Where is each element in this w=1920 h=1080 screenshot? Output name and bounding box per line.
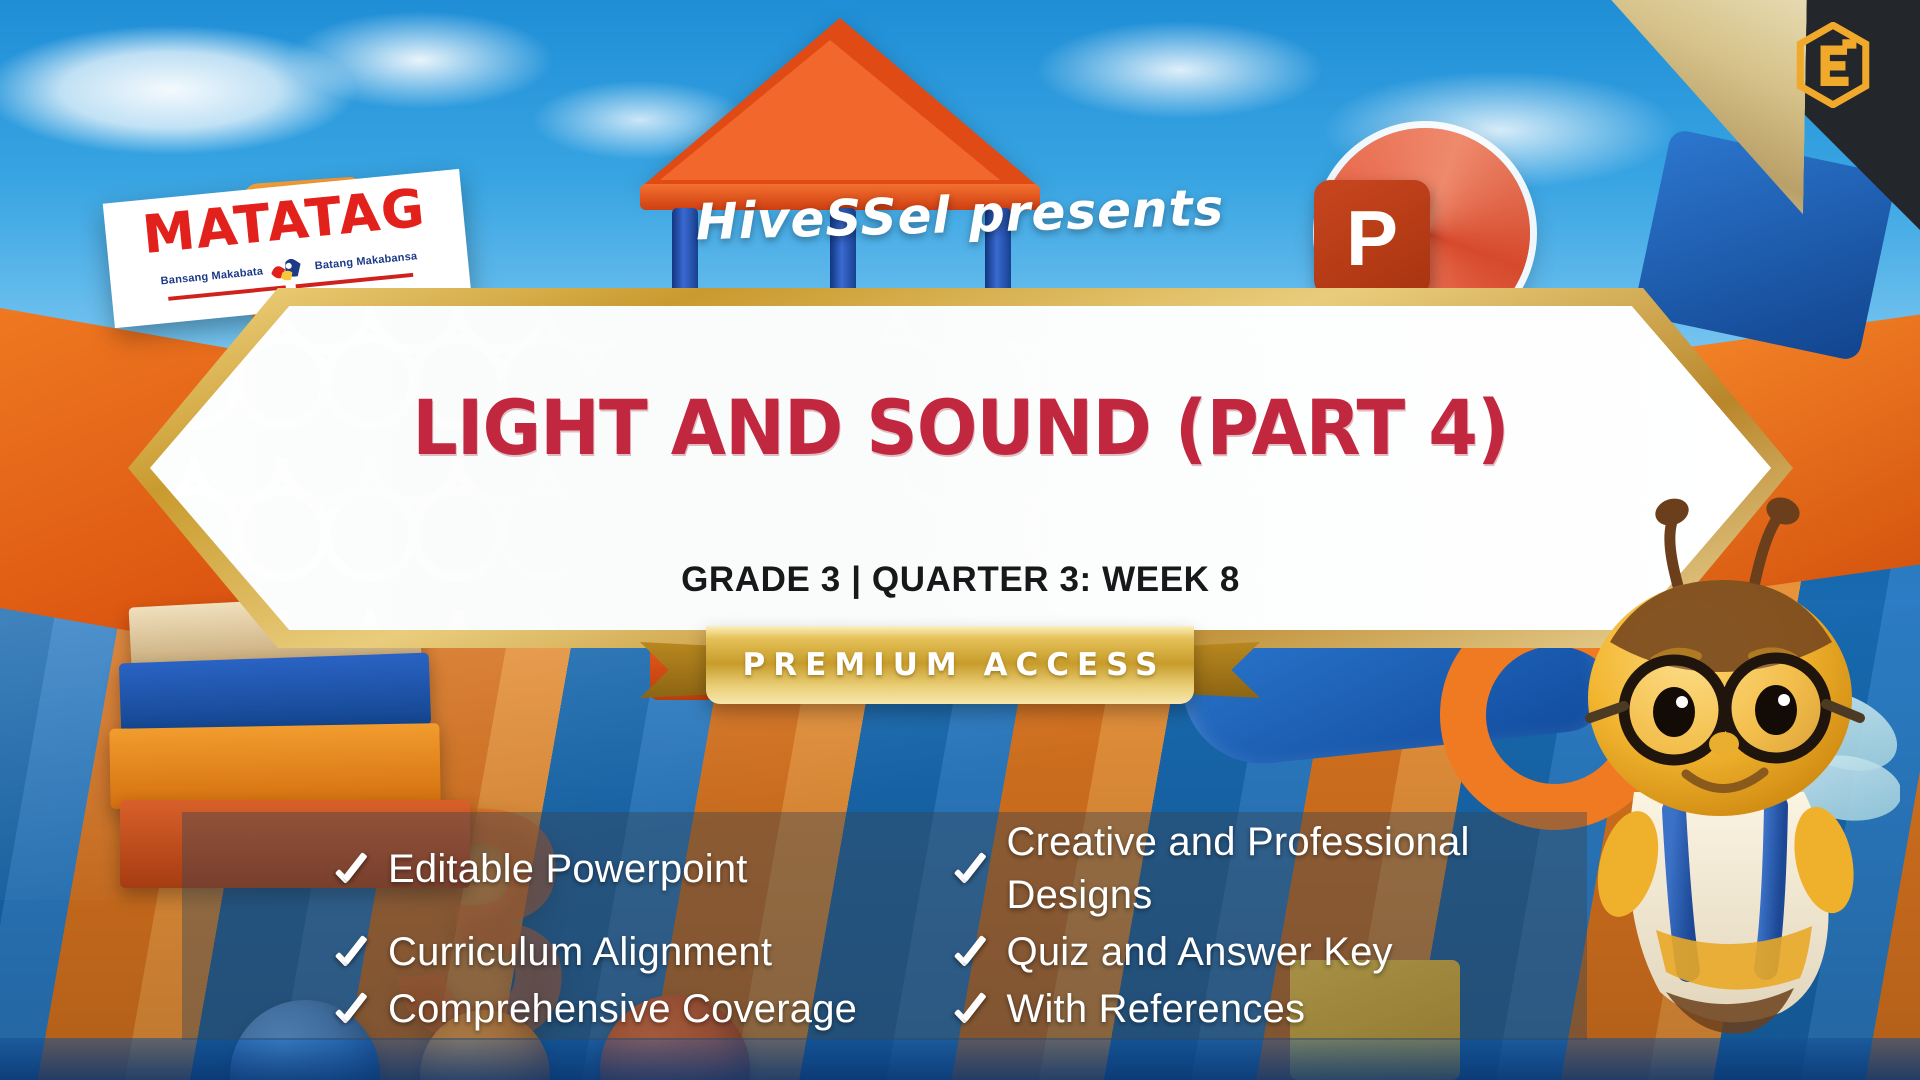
feature-item: Curriculum Alignment bbox=[332, 926, 951, 979]
book-stack-item bbox=[119, 653, 431, 736]
premium-access-label: PREMIUM ACCESS bbox=[735, 647, 1166, 683]
book-stack-item bbox=[109, 723, 440, 809]
slide-cover: 3 HiveSSel presents MATATAG Bansang Maka… bbox=[0, 0, 1920, 1080]
check-icon bbox=[332, 932, 372, 972]
feature-item: Quiz and Answer Key bbox=[951, 926, 1570, 979]
powerpoint-tile: P bbox=[1314, 180, 1430, 296]
grade-quarter-week-subtitle: GRADE 3 | QUARTER 3: WEEK 8 bbox=[150, 560, 1771, 600]
matatag-tagline-right: Batang Makabansa bbox=[314, 250, 418, 272]
feature-item: Creative and Professional Designs bbox=[951, 816, 1570, 922]
hands-heart-emblem-icon bbox=[268, 254, 310, 284]
feature-label: Creative and Professional Designs bbox=[1007, 816, 1570, 922]
ribbon-body: PREMIUM ACCESS bbox=[706, 626, 1194, 704]
check-icon bbox=[951, 849, 991, 889]
matatag-tagline-left: Bansang Makabata bbox=[160, 265, 264, 287]
bee-mascot-with-glasses bbox=[1570, 492, 1900, 1052]
check-icon bbox=[332, 849, 372, 889]
page-title: LIGHT AND SOUND (PART 4) bbox=[199, 390, 1723, 466]
feature-item: Editable Powerpoint bbox=[332, 816, 951, 922]
feature-label: Comprehensive Coverage bbox=[388, 983, 857, 1036]
feature-item: With References bbox=[951, 983, 1570, 1036]
feature-label: Curriculum Alignment bbox=[388, 926, 772, 979]
feature-label: With References bbox=[1007, 983, 1306, 1036]
playhouse-roof-highlight bbox=[660, 40, 1000, 180]
check-icon bbox=[951, 932, 991, 972]
features-panel: Editable Powerpoint Creative and Profess… bbox=[182, 812, 1587, 1040]
check-icon bbox=[332, 989, 372, 1029]
premium-access-ribbon: PREMIUM ACCESS bbox=[640, 620, 1260, 720]
feature-label: Quiz and Answer Key bbox=[1007, 926, 1393, 979]
powerpoint-letter: P bbox=[1346, 199, 1398, 277]
feature-item: Comprehensive Coverage bbox=[332, 983, 951, 1036]
hexagon-hive-logo-icon bbox=[1794, 22, 1872, 108]
feature-label: Editable Powerpoint bbox=[388, 843, 748, 896]
check-icon bbox=[951, 989, 991, 1029]
